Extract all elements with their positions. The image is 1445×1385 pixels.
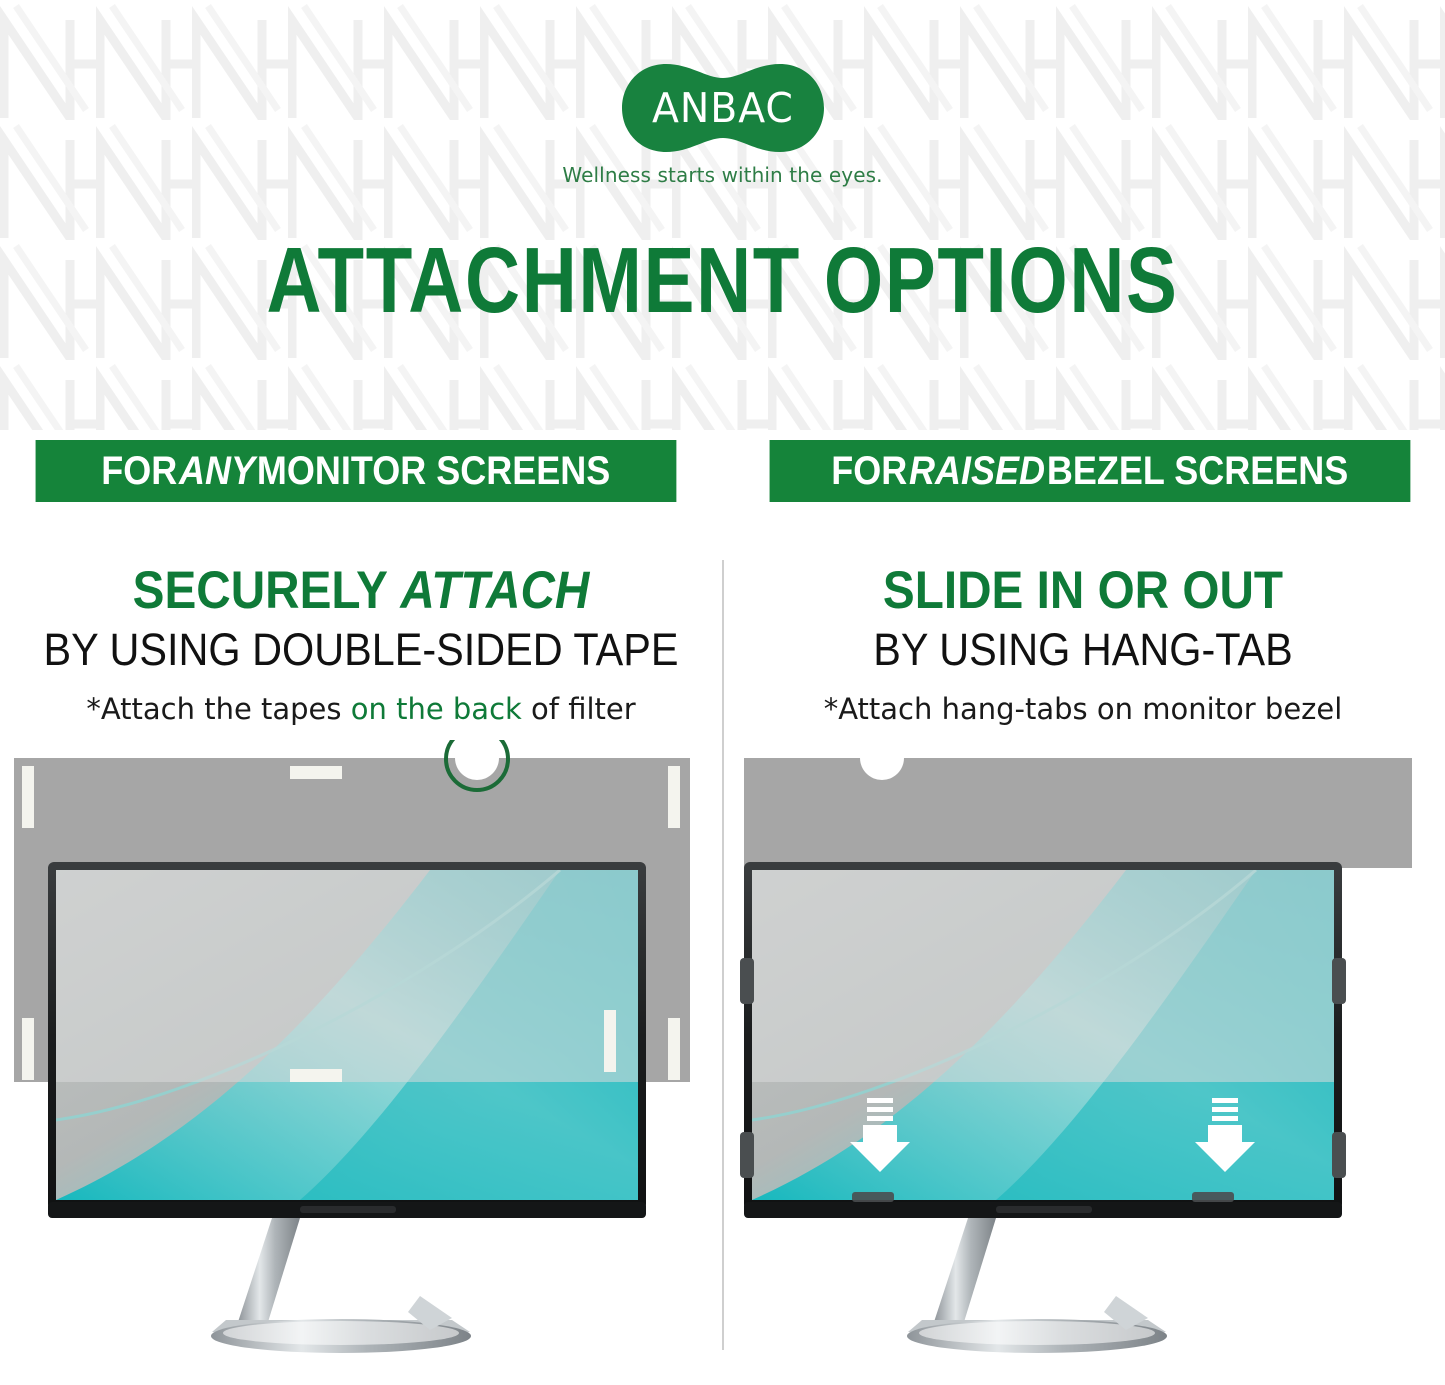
tape-strip-bottom-right: [668, 1018, 680, 1080]
page-title: ATTACHMENT OPTIONS: [130, 228, 1315, 333]
logo-wordmark: ANBAC: [652, 84, 794, 132]
bar-prefix-left: FOR: [101, 449, 177, 494]
left-heading-black: BY USING DOUBLE-SIDED TAPE: [29, 622, 693, 678]
left-column-headings: SECURELY ATTACH BY USING DOUBLE-SIDED TA…: [0, 545, 722, 726]
bar-prefix-right: FOR: [831, 449, 907, 494]
column-any-monitor: SECURELY ATTACH BY USING DOUBLE-SIDED TA…: [0, 545, 722, 1385]
bar-emphasis-right: RAISED: [907, 449, 1047, 494]
section-bars: FOR ANY MONITOR SCREENS FOR RAISED BEZEL…: [0, 440, 1445, 502]
bar-suffix-right: BEZEL SCREENS: [1046, 449, 1347, 494]
bar-suffix-left: MONITOR SCREENS: [257, 449, 610, 494]
tape-strip-top-left: [22, 766, 34, 828]
section-bar-any-monitor: FOR ANY MONITOR SCREENS: [36, 440, 676, 502]
illustration-tape-attach: [0, 740, 722, 1360]
hang-tab-right-upper: [1332, 958, 1346, 1004]
right-heading-green: SLIDE IN OR OUT: [758, 560, 1408, 622]
anbac-logo: ANBAC: [620, 62, 826, 154]
brand-header: ANBAC Wellness starts within the eyes.: [0, 0, 1445, 200]
brand-tagline: Wellness starts within the eyes.: [562, 163, 882, 187]
monitor-stand: [907, 1218, 1167, 1353]
tape-strip-top-center: [290, 766, 342, 779]
privacy-filter-sheet: [744, 758, 1412, 868]
illustration-hangtab-slide: [722, 740, 1444, 1360]
tape-strip-top-right: [668, 766, 680, 828]
section-bar-raised-bezel: FOR RAISED BEZEL SCREENS: [769, 440, 1409, 502]
hang-tab-left-lower: [740, 1132, 754, 1178]
monitor: [740, 862, 1346, 1218]
right-note: *Attach hang-tabs on monitor bezel: [722, 692, 1444, 726]
hang-tab-right-lower: [1332, 1132, 1346, 1178]
monitor-stand: [211, 1218, 471, 1353]
right-column-headings: SLIDE IN OR OUT BY USING HANG-TAB *Attac…: [722, 545, 1444, 726]
tape-strip-bottom-left: [22, 1018, 34, 1080]
monitor: [48, 862, 646, 1218]
right-heading-black: BY USING HANG-TAB: [751, 622, 1415, 678]
hang-tab-left-upper: [740, 958, 754, 1004]
left-note: *Attach the tapes on the back of filter: [0, 692, 722, 726]
bar-emphasis-left: ANY: [177, 449, 257, 494]
column-raised-bezel: SLIDE IN OR OUT BY USING HANG-TAB *Attac…: [722, 545, 1444, 1385]
left-heading-green: SECURELY ATTACH: [36, 560, 686, 622]
